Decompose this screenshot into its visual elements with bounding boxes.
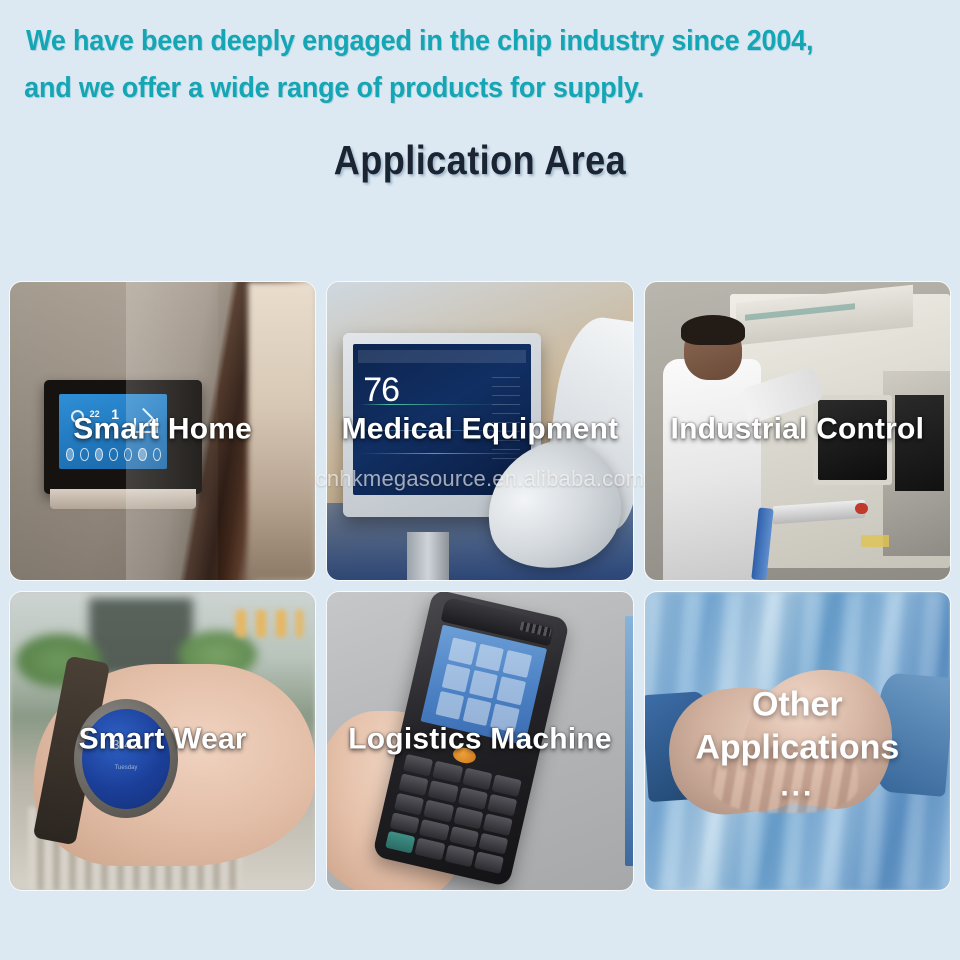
card-label-other-line-1: Other	[645, 683, 950, 726]
smart-wear-scene: 3:43 Tuesday	[10, 592, 315, 890]
light-glare	[126, 282, 218, 580]
monitor-stand	[407, 532, 450, 580]
medical-equipment-scene: 76	[327, 282, 632, 580]
technician-hair	[681, 315, 745, 345]
pda-scan-button	[451, 746, 476, 766]
pda-screen	[420, 624, 546, 744]
pda-icon-9	[490, 704, 519, 733]
card-industrial-control[interactable]: Industrial Control	[645, 282, 950, 580]
panel-value: 1	[111, 406, 119, 422]
pda-key	[389, 812, 419, 834]
lamp-icon	[66, 448, 74, 461]
background-lights	[236, 610, 303, 637]
red-indicator	[855, 503, 867, 515]
pda-key	[432, 761, 462, 783]
smartwatch-case: 3:43 Tuesday	[74, 699, 178, 818]
card-label-other-applications: Other Applications ...	[645, 683, 950, 803]
headline-block: We have been deeply engaged in the chip …	[0, 0, 960, 112]
pda-key	[398, 773, 428, 795]
pda-icon-8	[462, 697, 491, 726]
smart-home-scene: 22 1	[10, 282, 315, 580]
pda-key	[487, 794, 517, 816]
monitor-topbar	[358, 350, 526, 364]
headline-line-1: We have been deeply engaged in the chip …	[0, 18, 893, 65]
pda-key	[478, 832, 508, 854]
pda-icon-6	[496, 677, 525, 706]
card-medical-equipment[interactable]: 76 Medical Equipment	[327, 282, 632, 580]
pda-key	[462, 768, 492, 790]
pda-desktop-icons	[435, 637, 532, 732]
pda-key	[403, 754, 433, 776]
adjacent-card-edge	[625, 616, 633, 866]
pda-key	[423, 799, 453, 821]
watch-face: 3:43 Tuesday	[82, 709, 169, 809]
pda-key	[473, 852, 503, 874]
pda-key	[394, 793, 424, 815]
pda-icon-7	[435, 691, 464, 720]
room-background	[248, 282, 315, 580]
pda-keypad	[385, 754, 522, 874]
watch-date: Tuesday	[82, 765, 169, 771]
curtain-icon	[109, 448, 117, 461]
monitor-sidebar	[492, 377, 521, 460]
pda-key	[448, 826, 478, 848]
yellow-label	[861, 535, 888, 547]
pda-icon-4	[441, 664, 470, 693]
card-label-other-line-3: ...	[645, 769, 950, 803]
card-logistics-machine[interactable]: Logistics Machine	[327, 592, 632, 890]
pda-key	[419, 819, 449, 841]
control-monitor	[813, 395, 892, 484]
pda-icon-3	[502, 650, 531, 679]
pda-key	[482, 813, 512, 835]
panel-temperature: 22	[90, 409, 100, 419]
weather-sun-icon	[71, 410, 84, 423]
fan-icon	[80, 448, 88, 461]
headline-line-2: and we offer a wide range of products fo…	[0, 65, 893, 112]
card-other-applications[interactable]: Other Applications ...	[645, 592, 950, 890]
ac-icon	[95, 448, 103, 461]
promo-banner: We have been deeply engaged in the chip …	[0, 0, 960, 960]
pda-key	[491, 775, 521, 797]
pda-key	[457, 787, 487, 809]
industrial-control-scene	[645, 282, 950, 580]
pda-icon-1	[447, 637, 476, 666]
logistics-machine-scene	[327, 592, 632, 890]
card-smart-wear[interactable]: 3:43 Tuesday Smart Wear	[10, 592, 315, 890]
section-title: Application Area	[58, 138, 903, 182]
card-label-other-line-2: Applications	[645, 726, 950, 769]
pda-icon-5	[469, 670, 498, 699]
application-area-grid: 22 1	[10, 282, 950, 890]
pda-key	[453, 806, 483, 828]
pda-key-green	[385, 831, 415, 853]
pda-icon-2	[475, 643, 504, 672]
crt-screen	[818, 400, 887, 479]
pda-key	[414, 838, 444, 860]
pda-key	[428, 780, 458, 802]
machine-window	[895, 395, 944, 490]
card-smart-home[interactable]: 22 1	[10, 282, 315, 580]
watch-time: 3:43	[82, 737, 169, 752]
pda-key	[444, 845, 474, 867]
